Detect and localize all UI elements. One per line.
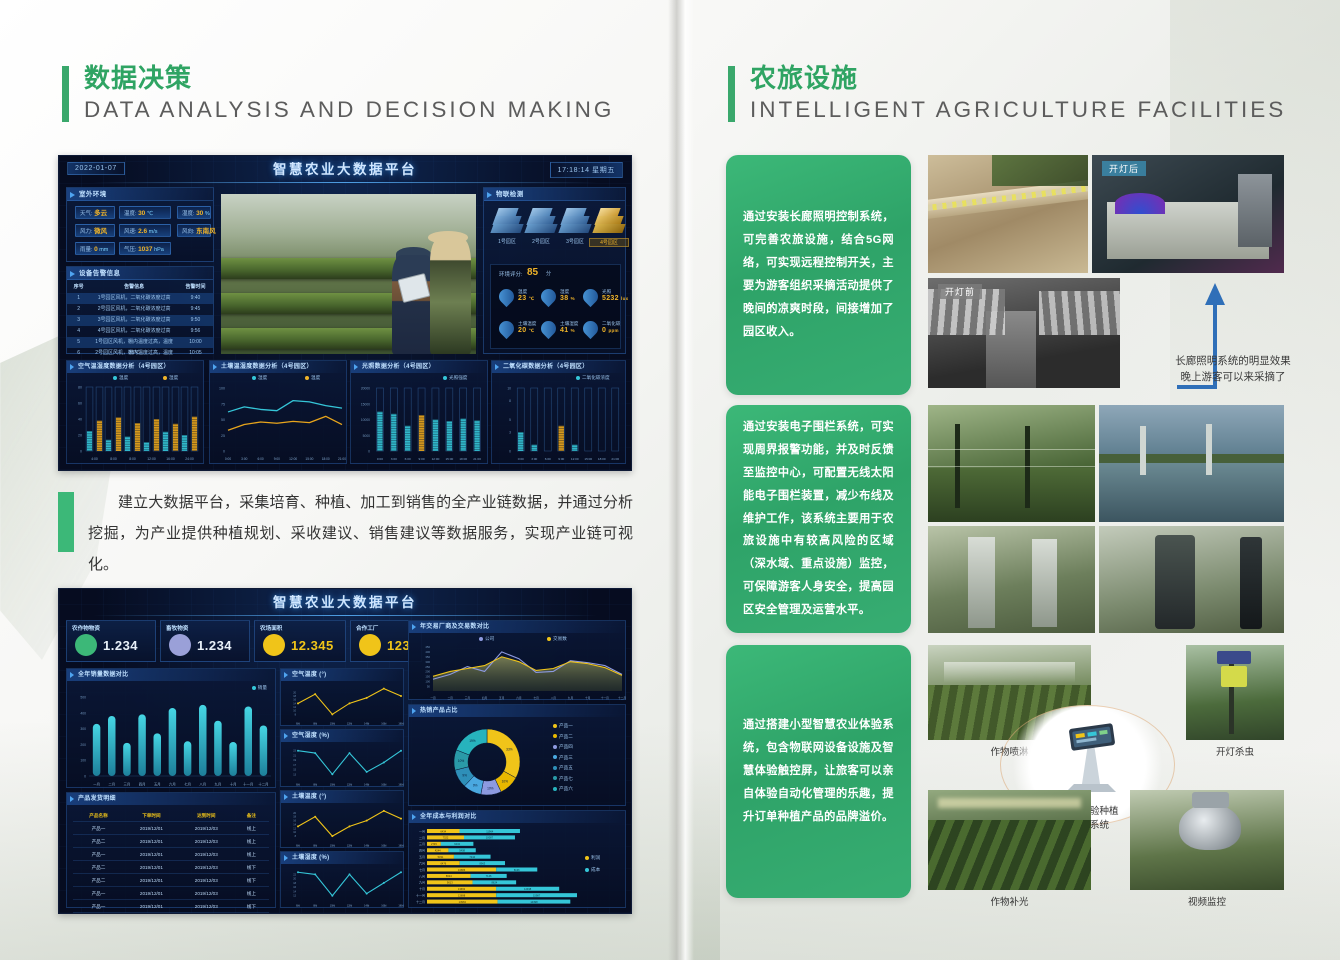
svg-text:五月: 五月 bbox=[154, 783, 161, 787]
panel-title: 空气温度 (°) bbox=[281, 669, 403, 681]
svg-text:18:00: 18:00 bbox=[598, 457, 606, 461]
svg-text:13: 13 bbox=[293, 773, 296, 776]
title-glow bbox=[93, 182, 596, 183]
svg-text:6476: 6476 bbox=[440, 861, 446, 865]
legend-temp: 温度 bbox=[113, 375, 128, 381]
weather-chip-2: 湿度: 30 % bbox=[177, 206, 211, 219]
outdoor-panel-title: 室外环境 bbox=[67, 188, 213, 201]
svg-text:0: 0 bbox=[80, 450, 82, 454]
alarm-cell: 5 bbox=[67, 337, 90, 348]
env-score-unit: 分 bbox=[546, 270, 551, 277]
weather-chip-0: 天气: 多云 bbox=[75, 206, 115, 219]
svg-text:150: 150 bbox=[425, 675, 430, 679]
svg-text:16:00: 16:00 bbox=[166, 457, 175, 461]
svg-text:五月: 五月 bbox=[419, 855, 425, 859]
svg-text:七月: 七月 bbox=[184, 782, 191, 787]
chart-light[interactable]: 光照数据分析（4号园区） 光照强度 050001000015000200000:… bbox=[350, 360, 488, 464]
caption-light: 作物补光 bbox=[928, 894, 1091, 908]
legend-light: 光照强度 bbox=[443, 375, 467, 381]
shipment-table[interactable]: 产品名称下单时间达到时间备注产品一2019/12/012019/12/03线上产… bbox=[73, 809, 269, 913]
svg-text:9%: 9% bbox=[473, 784, 478, 788]
dashboard-analytics[interactable]: 智慧农业大数据平台 农作物物资1.234畜牧物资1.234农场面积12.345合… bbox=[58, 588, 632, 914]
zone-label-4[interactable]: 4号园区 bbox=[589, 238, 629, 247]
svg-text:8624: 8624 bbox=[491, 881, 497, 885]
sensor-value: 20 ℃ bbox=[518, 327, 534, 334]
facility-text-block-2: 通过安装电子围栏系统，可实现周界报警功能，并及时反馈至监控中心，可配置无线太阳能… bbox=[726, 405, 911, 633]
sensor-drop-icon bbox=[538, 318, 559, 339]
alarm-cell: 3号园区风机，二氧化碳浓度过高 bbox=[90, 315, 178, 326]
crop-rows bbox=[928, 820, 1091, 890]
svg-text:4244: 4244 bbox=[435, 849, 441, 853]
legend-trades: 交易数 bbox=[547, 636, 567, 642]
shipment-cell: 产品二 bbox=[73, 874, 124, 886]
alarm-cell: 1号园区风机，棚内温度过高，温度35℃ bbox=[90, 337, 178, 348]
shipment-row[interactable]: 产品一2019/12/012019/12/03线上 bbox=[73, 887, 269, 900]
right-section-header: 农旅设施 INTELLIGENT AGRICULTURE FACILITIES bbox=[728, 62, 1288, 125]
svg-text:17: 17 bbox=[293, 764, 296, 767]
shipment-cell: 产品一 bbox=[73, 822, 124, 834]
panel-air-temperature[interactable]: 空气温度 (°) 81012141618206时8时10时12时14时16时18… bbox=[280, 668, 404, 726]
svg-text:8时: 8时 bbox=[313, 844, 317, 848]
svg-text:7244: 7244 bbox=[469, 855, 475, 859]
facility-text-1: 通过安装长廊照明控制系统，可完善农旅设施，结合5G网络，可实现远程控制开关，主要… bbox=[726, 206, 911, 344]
iot-monitoring-panel[interactable]: 物联检测 1号园区2号园区3号园区4号园区 环境评分: 85 分 温度23 ℃湿… bbox=[483, 187, 626, 354]
alarm-col-header: 告警时间 bbox=[178, 282, 213, 293]
alarm-row[interactable]: 51号园区风机，棚内温度过高，温度35℃10:00 bbox=[67, 337, 213, 348]
svg-text:16: 16 bbox=[293, 699, 296, 702]
svg-text:10时: 10时 bbox=[330, 904, 336, 908]
svg-text:十月: 十月 bbox=[585, 696, 591, 700]
svg-text:九月: 九月 bbox=[568, 696, 574, 700]
legend-co2: 二氧化碳浓度 bbox=[576, 375, 610, 381]
alarm-cell: 10:05 bbox=[178, 348, 213, 359]
legend-sales: 销量 bbox=[252, 685, 267, 691]
svg-text:10时: 10时 bbox=[330, 844, 336, 848]
photo-pest-lamp bbox=[1186, 645, 1284, 740]
svg-text:一月: 一月 bbox=[430, 696, 436, 700]
alarm-cell: 9:40 bbox=[178, 293, 213, 304]
svg-text:六月: 六月 bbox=[419, 860, 425, 865]
kpi-value: 123 bbox=[387, 638, 410, 653]
page-spine bbox=[668, 0, 694, 960]
svg-text:12498: 12498 bbox=[524, 887, 532, 891]
svg-text:九月: 九月 bbox=[215, 782, 222, 787]
shipment-cell: 线下 bbox=[234, 874, 269, 886]
svg-text:6:00: 6:00 bbox=[405, 457, 411, 461]
svg-text:16时: 16时 bbox=[381, 722, 387, 726]
kpi-card-3[interactable]: 农场面积12.345 bbox=[254, 620, 346, 662]
svg-text:21:00: 21:00 bbox=[611, 457, 619, 461]
plant-icon bbox=[75, 634, 97, 656]
svg-text:11964: 11964 bbox=[486, 829, 494, 833]
weather-chip-3: 风力: 微风 bbox=[75, 224, 115, 237]
donut-legend-item: 产品二 bbox=[553, 734, 573, 740]
svg-text:200: 200 bbox=[425, 670, 430, 674]
factory-icon bbox=[359, 634, 381, 656]
svg-text:6时: 6时 bbox=[296, 783, 300, 787]
svg-text:3:00: 3:00 bbox=[241, 457, 247, 461]
equipment-cabinet bbox=[1238, 174, 1273, 247]
caption-camera: 视频监控 bbox=[1130, 894, 1284, 908]
shipment-cell: 产品一 bbox=[73, 900, 124, 912]
zone-building-4[interactable] bbox=[596, 208, 622, 234]
shipment-col-header: 备注 bbox=[234, 809, 269, 821]
svg-text:18:00: 18:00 bbox=[322, 457, 330, 461]
legend-humidity: 湿度 bbox=[252, 375, 267, 381]
weather-chip-6: 雨量: 0 mm bbox=[75, 242, 115, 255]
shipment-cell: 2019/12/03 bbox=[179, 900, 234, 912]
svg-text:15000: 15000 bbox=[361, 402, 370, 406]
alarm-cell: 9:45 bbox=[178, 304, 213, 315]
svg-text:20: 20 bbox=[293, 812, 296, 815]
svg-text:18:00: 18:00 bbox=[459, 457, 467, 461]
shipment-row[interactable]: 产品一2019/12/012019/12/03线上 bbox=[73, 848, 269, 861]
alarm-cell: 4 bbox=[67, 326, 90, 337]
svg-text:40: 40 bbox=[78, 418, 82, 422]
chart-canvas: 1315171921236时8时10时12时14时16时18时 bbox=[281, 743, 405, 787]
svg-text:十二月: 十二月 bbox=[618, 696, 626, 700]
alarm-cell: 6 bbox=[67, 348, 90, 359]
svg-text:7146: 7146 bbox=[486, 874, 492, 878]
svg-text:16: 16 bbox=[293, 820, 296, 823]
photo-fence-device-1 bbox=[928, 526, 1095, 633]
alarm-row[interactable]: 62号园区风机，棚内温度过高，温度35℃10:05 bbox=[67, 348, 213, 359]
photo-corridor-dark: 开灯前 bbox=[928, 278, 1120, 388]
solar-panel bbox=[1217, 651, 1250, 664]
panel-cost-profit[interactable]: 全年成本与利润对比 一月643411964二月732210087三月274564… bbox=[408, 810, 626, 908]
svg-text:十月: 十月 bbox=[419, 886, 425, 891]
svg-text:三月: 三月 bbox=[124, 783, 131, 787]
chart-title: 土壤温湿度数据分析（4号园区） bbox=[210, 361, 346, 373]
alarm-row[interactable]: 22号园区风机，二氧化碳浓度过高9:45 bbox=[67, 304, 213, 315]
dashboard-overview[interactable]: 智慧农业大数据平台 2022-01-07 17:18:14 星期五 室外环境 天… bbox=[58, 155, 632, 471]
svg-text:19: 19 bbox=[293, 759, 296, 762]
chart-soil-temp-humidity[interactable]: 土壤温湿度数据分析（4号园区） 湿度 温度 02550751000:003:00… bbox=[209, 360, 347, 464]
svg-text:15:00: 15:00 bbox=[584, 457, 592, 461]
panel-title: 土壤温度 (°) bbox=[281, 791, 403, 803]
accent-bar-right bbox=[728, 66, 735, 122]
zone-building-1[interactable] bbox=[494, 208, 520, 234]
alarm-cell: 2号园区风机，二氧化碳浓度过高 bbox=[90, 304, 178, 315]
person-figure bbox=[430, 239, 471, 354]
svg-text:10000: 10000 bbox=[361, 418, 370, 422]
svg-text:5331: 5331 bbox=[438, 855, 444, 859]
chart-canvas: 0100200300400500一月二月三月四月五月六月七月八月九月十月十一月十… bbox=[67, 693, 277, 789]
env-score-value: 85 bbox=[527, 267, 538, 278]
panel-title: 土壤湿度 (%) bbox=[281, 852, 403, 864]
chart-canvas: 02550751000:003:006:009:0012:0015:0018:0… bbox=[210, 383, 348, 463]
svg-text:80: 80 bbox=[78, 386, 82, 390]
photo-fence-field bbox=[928, 405, 1095, 522]
control-box bbox=[1155, 535, 1196, 629]
panel-hot-products[interactable]: 热销产品占比 33%10%10%9%9%10%19% 产品一产品二产品四产品三产… bbox=[408, 704, 626, 806]
svg-text:6434: 6434 bbox=[440, 829, 446, 833]
donut-legend-item: 产品七 bbox=[553, 776, 573, 782]
svg-text:15:00: 15:00 bbox=[305, 457, 313, 461]
svg-text:50: 50 bbox=[427, 684, 431, 688]
svg-text:8时: 8时 bbox=[313, 904, 317, 908]
kpi-card-2[interactable]: 畜牧物资1.234 bbox=[160, 620, 250, 662]
svg-text:10%: 10% bbox=[458, 759, 465, 763]
fence-pillar bbox=[968, 537, 995, 628]
svg-text:18: 18 bbox=[293, 816, 296, 819]
shipment-cell: 2019/12/03 bbox=[179, 887, 234, 899]
svg-text:0: 0 bbox=[509, 450, 511, 454]
kpi-card-1[interactable]: 农作物物资1.234 bbox=[66, 620, 156, 662]
svg-text:19%: 19% bbox=[469, 739, 476, 743]
annotation-note: 长廊照明系统的明显效果 晚上游客可以来采摘了 bbox=[1148, 353, 1318, 386]
alarm-cell: 1号园区风机，二氧化碳浓度过高 bbox=[90, 293, 178, 304]
svg-text:21: 21 bbox=[293, 754, 296, 757]
shipment-cell: 2019/12/01 bbox=[124, 887, 179, 899]
svg-text:23: 23 bbox=[293, 750, 296, 753]
svg-text:二月: 二月 bbox=[419, 836, 425, 840]
facility-text-3: 通过搭建小型智慧农业体验系统，包含物联网设备设施及智慧体验触控屏，让旅客可以亲自… bbox=[726, 714, 911, 829]
svg-text:18时: 18时 bbox=[398, 783, 404, 787]
svg-text:3: 3 bbox=[509, 431, 511, 435]
chart-canvas: 50100150200250300350400450一月二月三月四月五月六月七月… bbox=[409, 643, 627, 701]
chart-canvas: 0358100:003:006:009:0012:0015:0018:0021:… bbox=[492, 383, 627, 463]
svg-text:500: 500 bbox=[80, 696, 86, 700]
svg-text:25: 25 bbox=[221, 434, 225, 438]
farm-icon bbox=[263, 634, 285, 656]
svg-text:12: 12 bbox=[293, 827, 296, 830]
ground bbox=[928, 468, 1095, 522]
panel-yearly-sales[interactable]: 全年销量数据对比 销量 0100200300400500一月二月三月四月五月六月… bbox=[66, 668, 276, 788]
chart-co2[interactable]: 二氧化碳数据分析（4号园区） 二氧化碳浓度 0358100:003:006:00… bbox=[491, 360, 626, 464]
svg-text:18时: 18时 bbox=[398, 722, 404, 726]
kiosk-illustration bbox=[1060, 718, 1122, 794]
right-title-cn: 农旅设施 bbox=[728, 62, 1288, 95]
shipment-row[interactable]: 产品一2019/12/012019/12/03线上 bbox=[73, 822, 269, 835]
shipment-cell: 2019/12/03 bbox=[179, 848, 234, 860]
alarm-cell: 4号园区风机，二氧化碳浓度过高 bbox=[90, 326, 178, 337]
svg-text:8: 8 bbox=[295, 835, 297, 838]
svg-text:12时: 12时 bbox=[347, 844, 353, 848]
svg-text:十一月: 十一月 bbox=[243, 782, 253, 787]
fence-post bbox=[1206, 424, 1212, 475]
fence-wire bbox=[928, 449, 1095, 450]
svg-text:16时: 16时 bbox=[381, 783, 387, 787]
svg-text:12:00: 12:00 bbox=[432, 457, 440, 461]
greenhouse-photo bbox=[221, 194, 476, 354]
panel-soil-temperature[interactable]: 土壤温度 (°) 81012141618206时8时10时12时14时16时18… bbox=[280, 790, 404, 848]
sensor-drop-icon bbox=[580, 318, 601, 339]
svg-text:十月: 十月 bbox=[230, 782, 237, 787]
sensor-value: 5232 lux bbox=[602, 295, 628, 302]
donut-legend-item: 产品六 bbox=[553, 786, 573, 792]
svg-text:八月: 八月 bbox=[419, 874, 425, 878]
chart-canvas: 050001000015000200000:003:006:009:0012:0… bbox=[351, 383, 489, 463]
note-line-2: 晚上游客可以来采摘了 bbox=[1148, 369, 1318, 385]
svg-text:6:00: 6:00 bbox=[545, 457, 551, 461]
svg-text:14时: 14时 bbox=[364, 904, 370, 908]
svg-text:14398: 14398 bbox=[530, 900, 538, 904]
photo-video-surveillance bbox=[1130, 790, 1284, 890]
svg-text:100: 100 bbox=[80, 759, 86, 763]
kpi-label: 农作物物资 bbox=[72, 624, 100, 632]
svg-text:三月: 三月 bbox=[419, 842, 425, 846]
kpi-label: 农场面积 bbox=[260, 624, 282, 632]
svg-text:20: 20 bbox=[293, 691, 296, 694]
svg-text:三月: 三月 bbox=[465, 696, 471, 700]
svg-text:22: 22 bbox=[293, 873, 296, 876]
shipment-cell: 线下 bbox=[234, 861, 269, 873]
legend-temp: 温度 bbox=[305, 375, 320, 381]
svg-text:20: 20 bbox=[293, 878, 296, 881]
alarm-table-header: 序号告警信息告警时间 bbox=[67, 282, 213, 293]
env-score-label: 环境评分: bbox=[499, 270, 523, 278]
shipment-cell: 2019/12/01 bbox=[124, 822, 179, 834]
control-box bbox=[1240, 537, 1262, 629]
sensor-value: 38 % bbox=[560, 295, 575, 302]
light-glow bbox=[938, 798, 1081, 808]
svg-text:0:00: 0:00 bbox=[377, 457, 383, 461]
svg-text:15: 15 bbox=[293, 769, 296, 772]
alarm-row[interactable]: 44号园区风机，二氧化碳浓度过高9:56 bbox=[67, 326, 213, 337]
svg-text:13698: 13698 bbox=[458, 893, 466, 897]
svg-text:6434: 6434 bbox=[454, 842, 460, 846]
outdoor-environment-panel: 室外环境 天气: 多云温度: 30 ℃湿度: 30 %风力: 微风风速: 2.6… bbox=[66, 187, 214, 262]
legend-cost: 成本 bbox=[585, 867, 600, 873]
camera-mount bbox=[1192, 792, 1229, 808]
svg-text:八月: 八月 bbox=[199, 783, 206, 787]
dome-camera bbox=[1179, 804, 1241, 850]
svg-text:二月: 二月 bbox=[447, 696, 453, 700]
alarm-cell: 9:56 bbox=[178, 326, 213, 337]
shipment-cell: 2019/12/01 bbox=[124, 848, 179, 860]
svg-text:9:00: 9:00 bbox=[274, 457, 280, 461]
water bbox=[1099, 461, 1284, 522]
alarm-panel-title: 设备告警信息 bbox=[67, 267, 213, 280]
svg-text:20: 20 bbox=[78, 434, 82, 438]
iot-panel-title: 物联检测 bbox=[484, 188, 625, 201]
fence-pillar bbox=[1032, 539, 1057, 627]
dashboard1-title: 智慧农业大数据平台 bbox=[59, 156, 631, 184]
shipment-row[interactable]: 产品二2019/12/012019/12/03线上 bbox=[73, 835, 269, 848]
svg-text:14: 14 bbox=[293, 702, 296, 705]
shipment-row[interactable]: 产品二2019/12/012019/12/03线下 bbox=[73, 861, 269, 874]
svg-text:十二月: 十二月 bbox=[416, 899, 425, 904]
svg-text:300: 300 bbox=[80, 727, 86, 731]
shipment-cell: 2019/12/01 bbox=[124, 874, 179, 886]
chart-title: 光照数据分析（4号园区） bbox=[351, 361, 487, 373]
alarm-row[interactable]: 11号园区风机，二氧化碳浓度过高9:40 bbox=[67, 293, 213, 304]
alarm-col-header: 序号 bbox=[67, 282, 90, 293]
alarm-cell: 9:50 bbox=[178, 315, 213, 326]
alarm-cell: 2 bbox=[67, 304, 90, 315]
svg-text:7322: 7322 bbox=[443, 836, 449, 840]
svg-text:24:00: 24:00 bbox=[185, 457, 194, 461]
facility-text-2: 通过安装电子围栏系统，可实现周界报警功能，并及时反馈至监控中心，可配置无线太阳能… bbox=[726, 416, 911, 623]
panel-air-humidity[interactable]: 空气湿度 (%) 1315171921236时8时10时12时14时16时18时 bbox=[280, 729, 404, 787]
svg-text:400: 400 bbox=[80, 711, 86, 715]
lamp-pole bbox=[1229, 653, 1234, 735]
left-title-en: DATA ANALYSIS AND DECISION MAKING bbox=[62, 95, 662, 125]
panel-yearly-trade[interactable]: 年交易厂商及交易数对比 公司 交易数 501001502002503003504… bbox=[408, 620, 626, 700]
chart-air-temp-humidity[interactable]: 空气温湿度数据分析（4号园区） 温度 湿度 0204060804:008:008… bbox=[66, 360, 204, 464]
chart-title: 二氧化碳数据分析（4号园区） bbox=[492, 361, 625, 373]
foliage bbox=[992, 155, 1088, 186]
svg-text:九月: 九月 bbox=[419, 880, 425, 885]
svg-text:16时: 16时 bbox=[381, 844, 387, 848]
svg-text:6:00: 6:00 bbox=[257, 457, 263, 461]
shipment-header-row: 产品名称下单时间达到时间备注 bbox=[73, 809, 269, 822]
svg-text:四月: 四月 bbox=[482, 696, 488, 700]
zone-building-3[interactable] bbox=[562, 208, 588, 234]
left-paragraph: 建立大数据平台，采集培育、种植、加工到销售的全产业链数据，并通过分析挖掘，为产业… bbox=[88, 488, 633, 580]
panel-title: 空气湿度 (%) bbox=[281, 730, 403, 742]
title-glow bbox=[93, 615, 596, 616]
svg-text:8时: 8时 bbox=[313, 722, 317, 726]
shipment-cell: 2019/12/01 bbox=[124, 835, 179, 847]
svg-text:300: 300 bbox=[425, 660, 430, 664]
alarm-col-header: 告警信息 bbox=[90, 282, 178, 293]
dashboard1-time: 17:18:14 星期五 bbox=[550, 162, 623, 178]
left-section-header: 数据决策 DATA ANALYSIS AND DECISION MAKING bbox=[62, 62, 662, 125]
svg-text:3:00: 3:00 bbox=[391, 457, 397, 461]
water-mist bbox=[944, 662, 1074, 683]
panel-soil-humidity[interactable]: 土壤湿度 (%) 1214161820226时8时10时12时14时16时18时 bbox=[280, 851, 404, 908]
shipment-row[interactable]: 产品二2019/12/012019/12/03线下 bbox=[73, 874, 269, 887]
svg-text:250: 250 bbox=[425, 665, 430, 669]
sensor-drop-icon bbox=[496, 286, 517, 307]
svg-text:8963: 8963 bbox=[479, 861, 485, 865]
panel-shipment-detail[interactable]: 产品发货明细 产品名称下单时间达到时间备注产品一2019/12/012019/1… bbox=[66, 792, 276, 908]
alarm-table[interactable]: 序号告警信息告警时间11号园区风机，二氧化碳浓度过高9:4022号园区风机，二氧… bbox=[67, 282, 213, 359]
svg-text:18: 18 bbox=[293, 882, 296, 885]
kpi-label: 合作工厂 bbox=[356, 624, 378, 632]
alarm-panel[interactable]: 设备告警信息 序号告警信息告警时间11号园区风机，二氧化碳浓度过高9:4022号… bbox=[66, 266, 214, 354]
svg-text:9:00: 9:00 bbox=[558, 457, 564, 461]
svg-text:10时: 10时 bbox=[330, 783, 336, 787]
svg-text:8: 8 bbox=[295, 713, 297, 716]
paragraph-accent-bar bbox=[58, 492, 74, 552]
svg-text:60: 60 bbox=[78, 402, 82, 406]
svg-text:0: 0 bbox=[84, 775, 86, 779]
svg-text:75: 75 bbox=[221, 402, 225, 406]
svg-text:6时: 6时 bbox=[296, 722, 300, 726]
svg-text:3:00: 3:00 bbox=[531, 457, 537, 461]
svg-text:0: 0 bbox=[368, 450, 370, 454]
svg-text:0:00: 0:00 bbox=[518, 457, 524, 461]
svg-text:0: 0 bbox=[223, 450, 225, 454]
alarm-cell: 3 bbox=[67, 315, 90, 326]
svg-text:12:00: 12:00 bbox=[571, 457, 579, 461]
weather-chip-1: 温度: 30 ℃ bbox=[119, 206, 171, 219]
dashboard2-title: 智慧农业大数据平台 bbox=[59, 589, 631, 617]
shipment-row[interactable]: 产品一2019/12/012019/12/03线下 bbox=[73, 900, 269, 913]
legend-profit: 利润 bbox=[585, 855, 600, 861]
panel-title: 全年成本与利润对比 bbox=[409, 811, 625, 823]
svg-text:5000: 5000 bbox=[363, 434, 371, 438]
svg-text:50: 50 bbox=[221, 418, 225, 422]
shipment-cell: 产品二 bbox=[73, 861, 124, 873]
panel-title: 年交易厂商及交易数对比 bbox=[409, 621, 625, 633]
alarm-row[interactable]: 33号园区风机，二氧化碳浓度过高9:50 bbox=[67, 315, 213, 326]
svg-text:二月: 二月 bbox=[108, 783, 115, 787]
svg-text:8:00: 8:00 bbox=[110, 457, 117, 461]
person-figure bbox=[392, 255, 435, 354]
zone-building-2[interactable] bbox=[528, 208, 554, 234]
shipment-cell: 2019/12/03 bbox=[179, 861, 234, 873]
shipment-cell: 产品二 bbox=[73, 835, 124, 847]
svg-text:十二月: 十二月 bbox=[258, 782, 268, 787]
kpi-value: 1.234 bbox=[197, 638, 232, 653]
svg-text:8: 8 bbox=[509, 399, 511, 403]
legend-company: 公司 bbox=[479, 636, 494, 642]
alarm-cell: 2号园区风机，棚内温度过高，温度35℃ bbox=[90, 348, 178, 359]
